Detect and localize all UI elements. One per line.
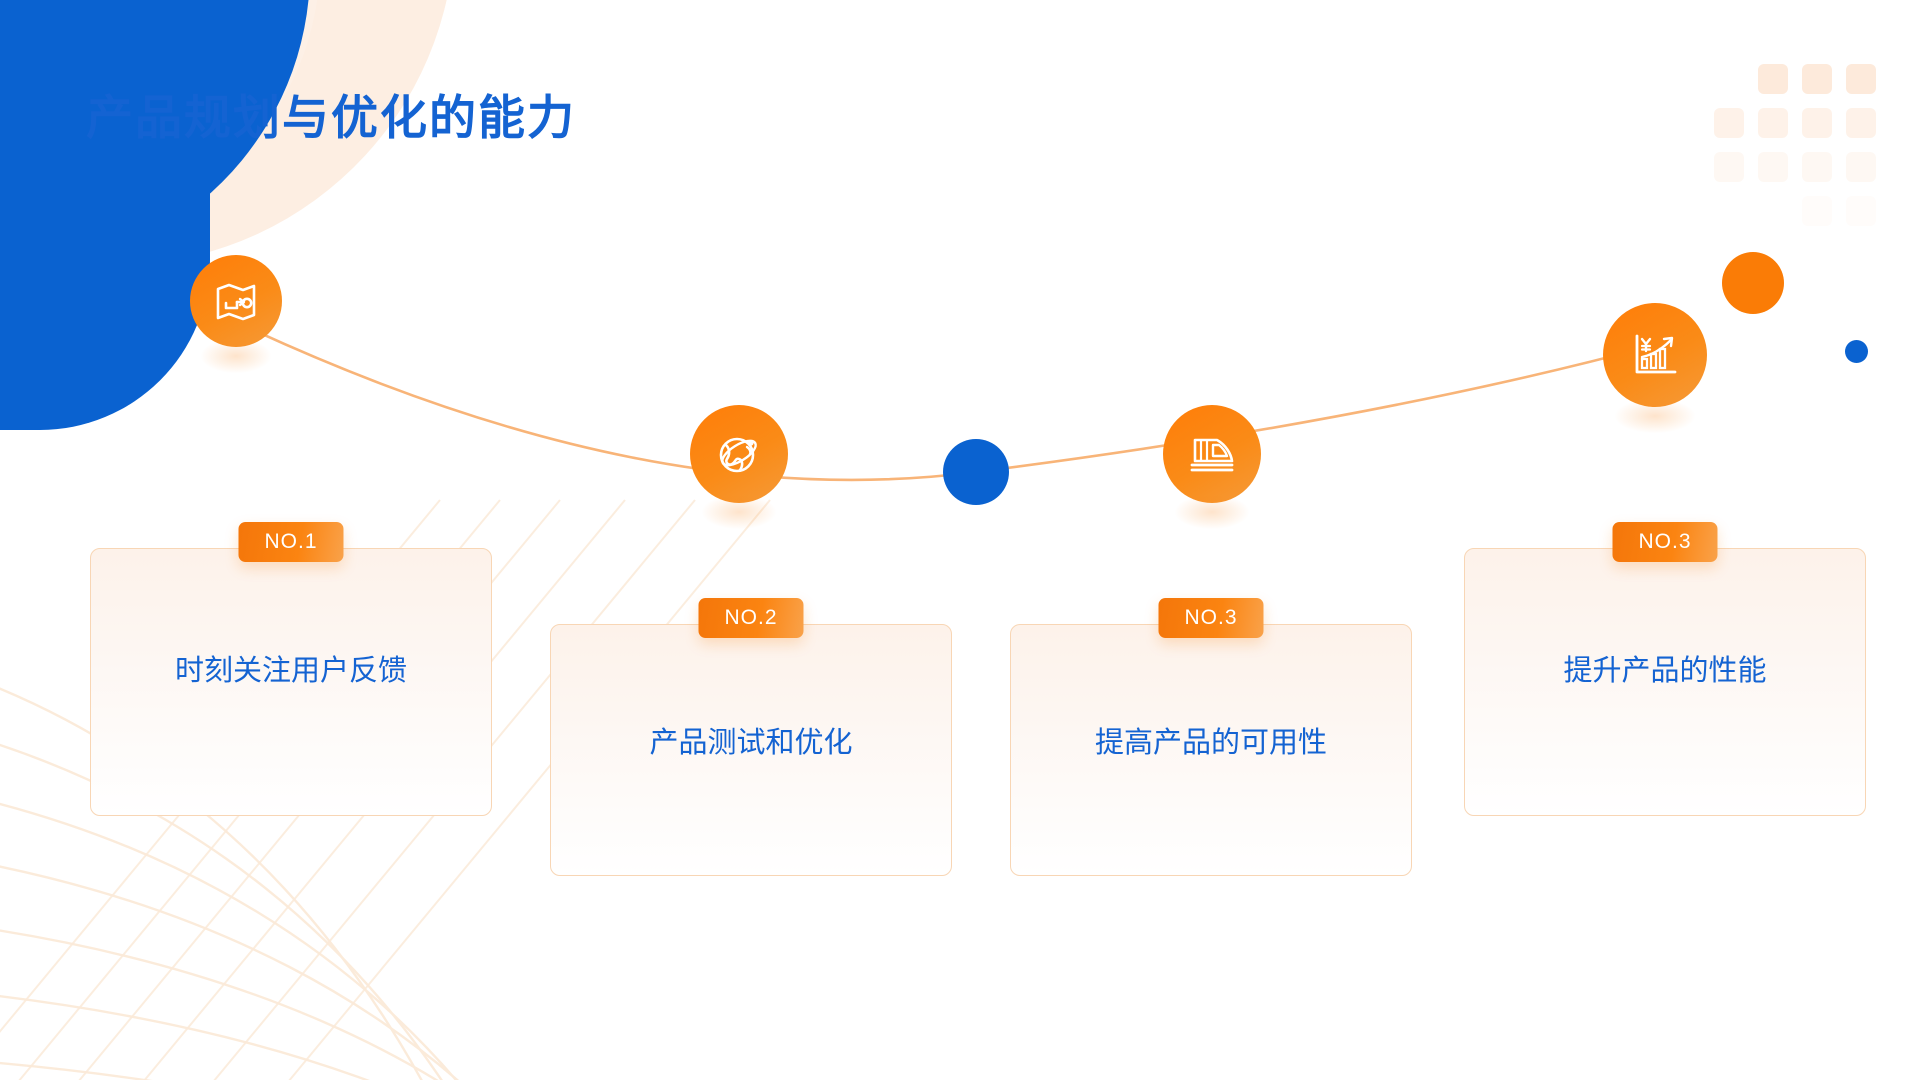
journey-node-map[interactable] — [190, 255, 282, 347]
journey-node-globe[interactable] — [690, 405, 788, 503]
info-card[interactable]: NO.3 提高产品的可用性 — [1010, 624, 1412, 876]
journey-timeline — [0, 0, 1920, 560]
globe-orbit-icon — [713, 428, 765, 480]
info-card[interactable]: NO.2 产品测试和优化 — [550, 624, 952, 876]
journey-node-blue-dot[interactable] — [943, 439, 1009, 505]
card-label: 提高产品的可用性 — [1011, 719, 1411, 761]
slide-canvas: 产品规划与优化的能力 — [0, 0, 1920, 1080]
journey-node-train[interactable] — [1163, 405, 1261, 503]
card-label: 提升产品的性能 — [1465, 647, 1865, 689]
bar-chart-yen-icon — [1628, 328, 1682, 382]
map-route-icon — [212, 277, 260, 325]
card-badge: NO.3 — [1612, 522, 1717, 562]
card-badge: NO.3 — [1158, 598, 1263, 638]
info-card[interactable]: NO.3 提升产品的性能 — [1464, 548, 1866, 816]
card-badge: NO.1 — [238, 522, 343, 562]
card-badge: NO.2 — [698, 598, 803, 638]
train-icon — [1186, 428, 1238, 480]
card-label: 时刻关注用户反馈 — [91, 647, 491, 689]
card-label: 产品测试和优化 — [551, 719, 951, 761]
info-card[interactable]: NO.1 时刻关注用户反馈 — [90, 548, 492, 816]
journey-node-growth[interactable] — [1603, 303, 1707, 407]
